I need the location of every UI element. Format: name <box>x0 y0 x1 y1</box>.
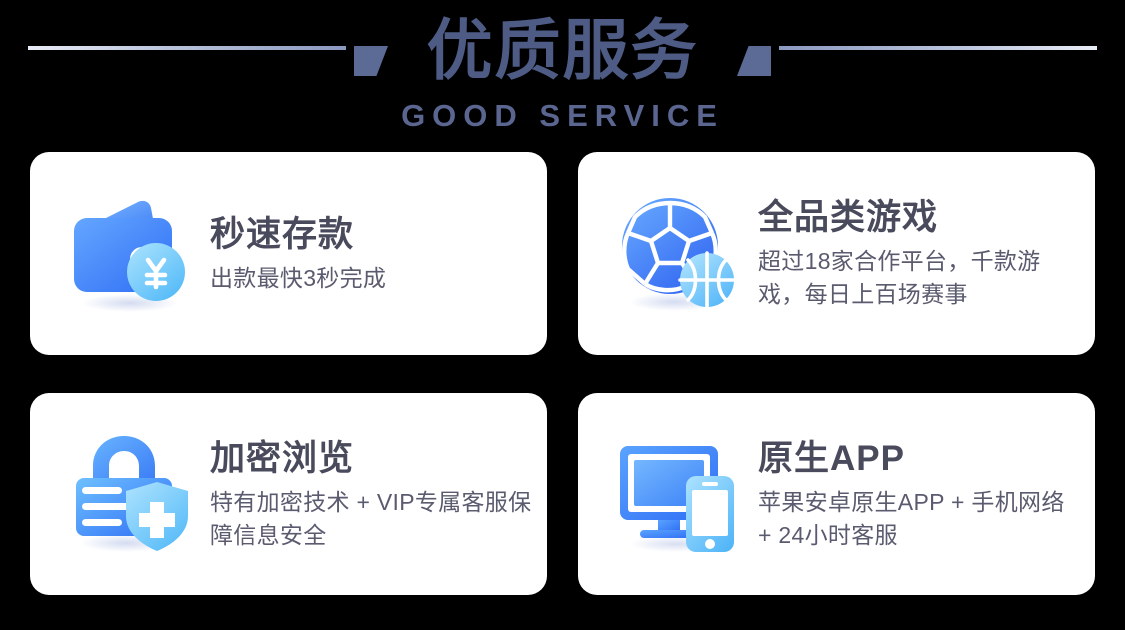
page-title: 优质服务 <box>0 8 1125 92</box>
lock-shield-icon <box>64 428 196 560</box>
card-title: 秒速存款 <box>210 213 535 257</box>
wallet-yen-icon <box>64 188 196 320</box>
feature-card-encryption[interactable]: 加密浏览 特有加密技术 + VIP专属客服保障信息安全 <box>30 393 547 595</box>
card-text-block: 原生APP 苹果安卓原生APP + 手机网络 + 24小时客服 <box>758 437 1095 552</box>
feature-card-deposit[interactable]: 秒速存款 出款最快3秒完成 <box>30 152 547 355</box>
card-title: 加密浏览 <box>210 437 535 481</box>
card-description: 超过18家合作平台，千款游戏，每日上百场赛事 <box>758 245 1083 311</box>
card-description: 特有加密技术 + VIP专属客服保障信息安全 <box>210 486 535 552</box>
card-text-block: 秒速存款 出款最快3秒完成 <box>210 213 547 295</box>
feature-card-games[interactable]: 全品类游戏 超过18家合作平台，千款游戏，每日上百场赛事 <box>578 152 1095 355</box>
card-description: 出款最快3秒完成 <box>210 262 535 295</box>
card-text-block: 全品类游戏 超过18家合作平台，千款游戏，每日上百场赛事 <box>758 196 1095 311</box>
monitor-phone-icon <box>612 428 744 560</box>
card-description: 苹果安卓原生APP + 手机网络 + 24小时客服 <box>758 486 1083 552</box>
card-title: 全品类游戏 <box>758 196 1083 240</box>
soccer-basketball-icon <box>612 188 744 320</box>
page-header: 优质服务 GOOD SERVICE <box>0 0 1125 146</box>
feature-card-grid: 秒速存款 出款最快3秒完成 <box>30 152 1095 595</box>
card-title: 原生APP <box>758 437 1083 481</box>
card-text-block: 加密浏览 特有加密技术 + VIP专属客服保障信息安全 <box>210 437 547 552</box>
feature-card-native-app[interactable]: 原生APP 苹果安卓原生APP + 手机网络 + 24小时客服 <box>578 393 1095 595</box>
page-subtitle: GOOD SERVICE <box>0 98 1125 134</box>
